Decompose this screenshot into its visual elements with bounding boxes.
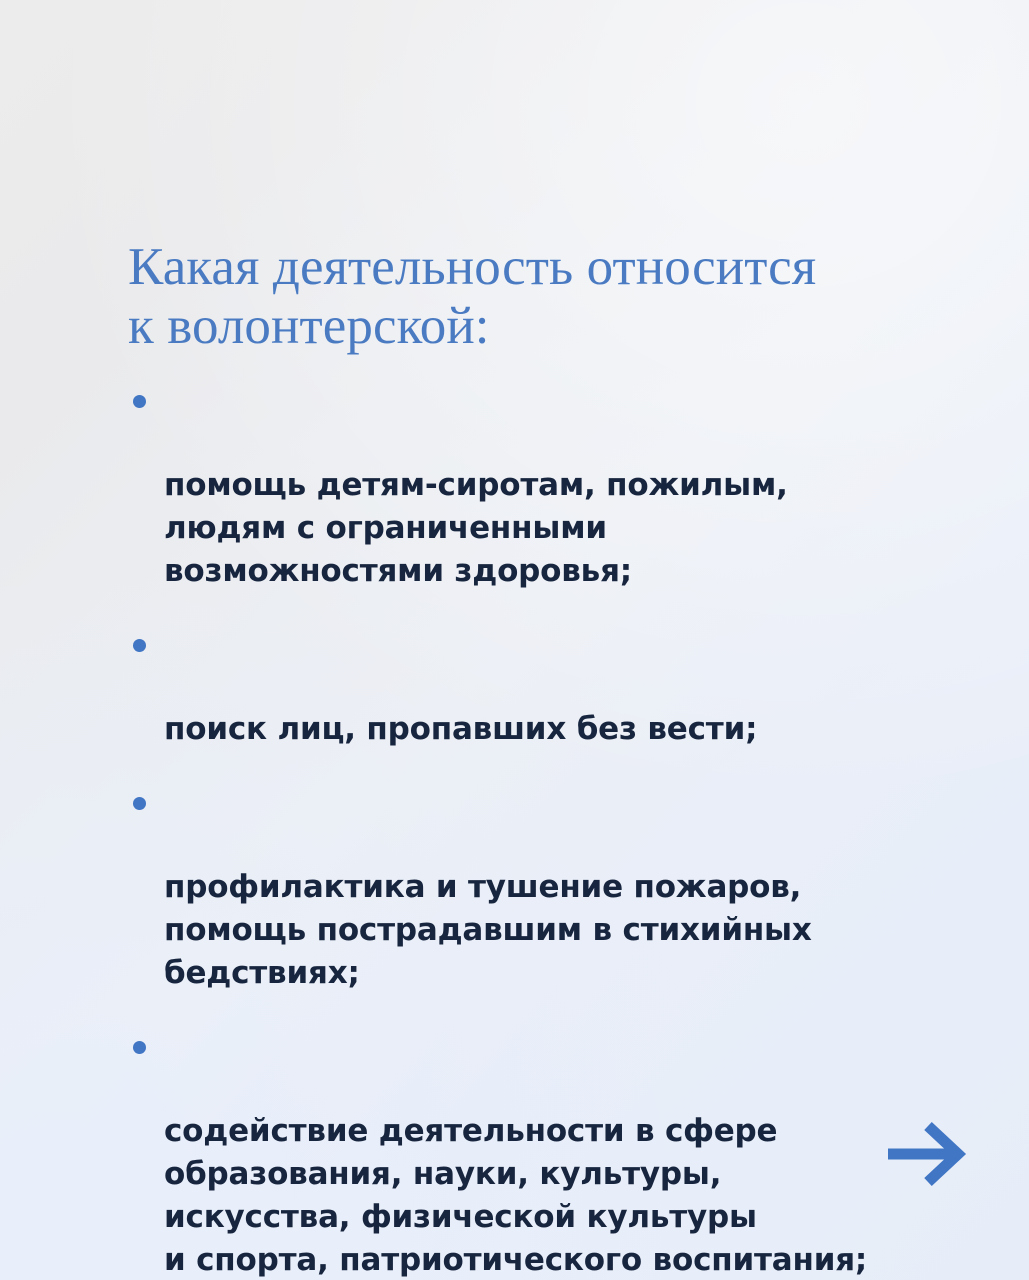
bullet-dot-icon: [133, 797, 146, 810]
arrow-right-icon[interactable]: [880, 1112, 970, 1196]
page-title: Какая деятельность относится к волонтерс…: [128, 238, 988, 357]
list-item: содействие деятельности в сфере образова…: [128, 1025, 988, 1280]
list-item-text: поиск лиц, пропавших без вести;: [164, 711, 757, 747]
bullet-dot-icon: [133, 395, 146, 408]
bullet-dot-icon: [133, 1041, 146, 1054]
list-item-text: помощь детям-сиротам, пожилым, людям с о…: [164, 467, 788, 589]
list-item: помощь детям-сиротам, пожилым, людям с о…: [128, 379, 988, 593]
list-item: профилактика и тушение пожаров, помощь п…: [128, 781, 988, 995]
list-item: поиск лиц, пропавших без вести;: [128, 623, 988, 751]
slide-content: Какая деятельность относится к волонтерс…: [128, 238, 988, 1280]
list-item-text: содействие деятельности в сфере образова…: [164, 1113, 867, 1277]
slide-canvas: Какая деятельность относится к волонтерс…: [0, 0, 1029, 1280]
bullet-dot-icon: [133, 639, 146, 652]
bullet-list: помощь детям-сиротам, пожилым, людям с о…: [128, 379, 988, 1280]
list-item-text: профилактика и тушение пожаров, помощь п…: [164, 869, 812, 991]
